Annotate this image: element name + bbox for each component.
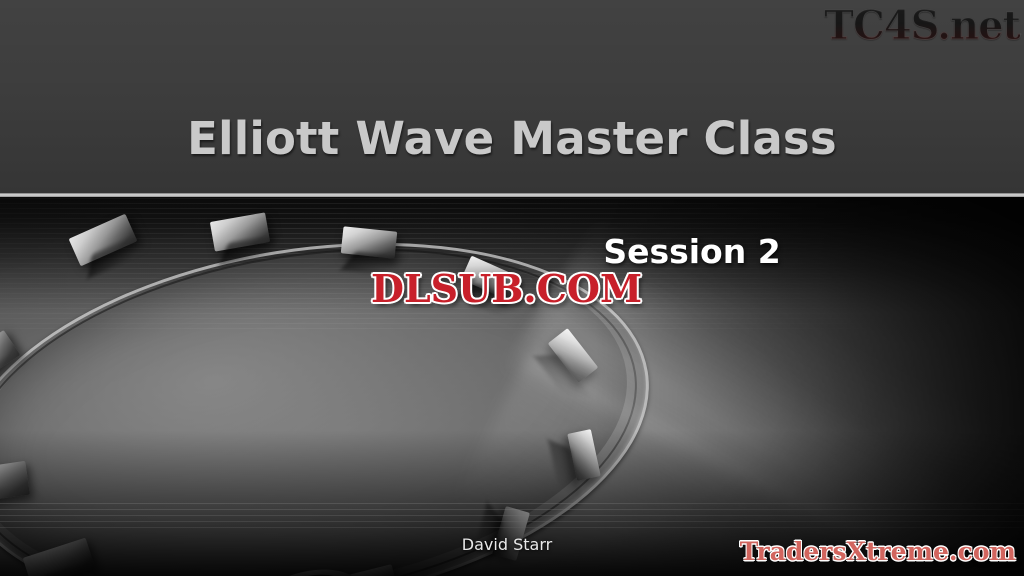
watermark-dlsub: DLSUB.COM [371, 266, 642, 311]
band-divider [0, 193, 1024, 197]
watermark-tradersxtreme: TradersXtreme.com [740, 537, 1016, 566]
page-title: Elliott Wave Master Class [0, 112, 1024, 165]
presenter-name-text: David Starr [462, 535, 552, 554]
presentation-slide: Elliott Wave Master Class [0, 0, 1024, 576]
watermark-tc4s: TC4S.net [824, 2, 1020, 49]
